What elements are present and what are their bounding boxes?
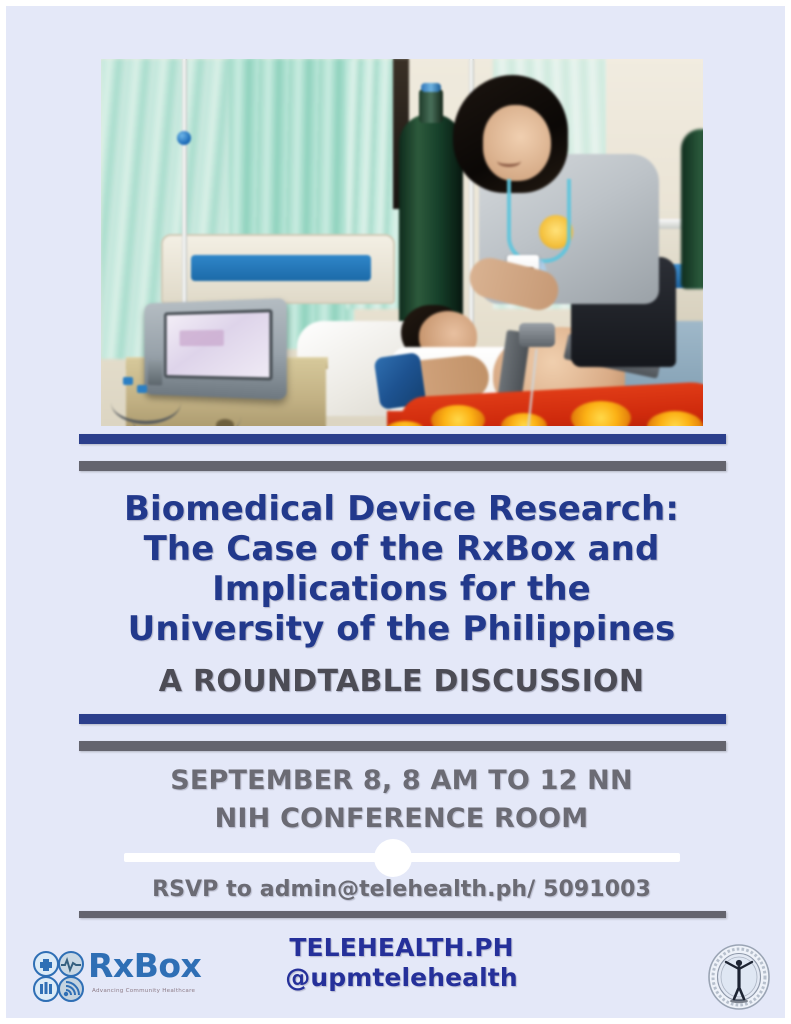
health-worker-face-icon [483,105,551,181]
rxbox-tagline: Advancing Community Healthcare [92,988,195,994]
cable-plug-icon [137,385,147,393]
rxbox-logo-mark-icon [30,948,88,1004]
rxbox-waveform-icon [180,330,224,346]
photo-scene [101,59,703,426]
hero-photo [101,59,703,426]
bed-headboard-panel-icon [191,255,371,281]
up-manila-seal-icon [706,943,772,1011]
ultrasound-transducer-icon [519,323,555,347]
divider-white-dot [374,839,412,877]
oxygen-tank-far-icon [681,129,703,289]
divider-navy-middle [79,714,726,724]
iv-pole-knob-icon [177,131,191,145]
oxygen-cap-icon [421,83,441,92]
rxbox-logo: RxBox Advancing Community Healthcare [30,946,195,1008]
health-worker-smile-icon [497,155,521,167]
rxbox-wordmark: RxBox [88,946,201,985]
page-title: Biomedical Device Research: The Case of … [6,489,791,649]
divider-gray-bottom [79,911,726,918]
title-line-1: Biomedical Device Research: [6,489,791,529]
title-line-3: Implications for the [6,569,791,609]
event-details: SEPTEMBER 8, 8 AM TO 12 NN NIH CONFERENC… [6,762,791,838]
cable-plug-icon [123,377,133,385]
lanyard-icon [507,179,571,263]
title-line-2: The Case of the RxBox and [6,529,791,569]
event-subtitle: A ROUNDTABLE DISCUSSION [6,664,791,699]
divider-gray-middle [79,741,726,751]
rxbox-screen-icon [164,309,273,380]
divider-navy-top [79,434,726,444]
oxygen-valve-icon [419,89,443,123]
event-venue: NIH CONFERENCE ROOM [6,800,791,838]
title-line-4: University of the Philippines [6,609,791,649]
rsvp-text: RSVP to admin@telehealth.ph/ 5091003 [6,877,791,902]
divider-gray-top [79,461,726,471]
event-poster: Biomedical Device Research: The Case of … [0,0,791,1024]
event-date-time: SEPTEMBER 8, 8 AM TO 12 NN [6,762,791,800]
